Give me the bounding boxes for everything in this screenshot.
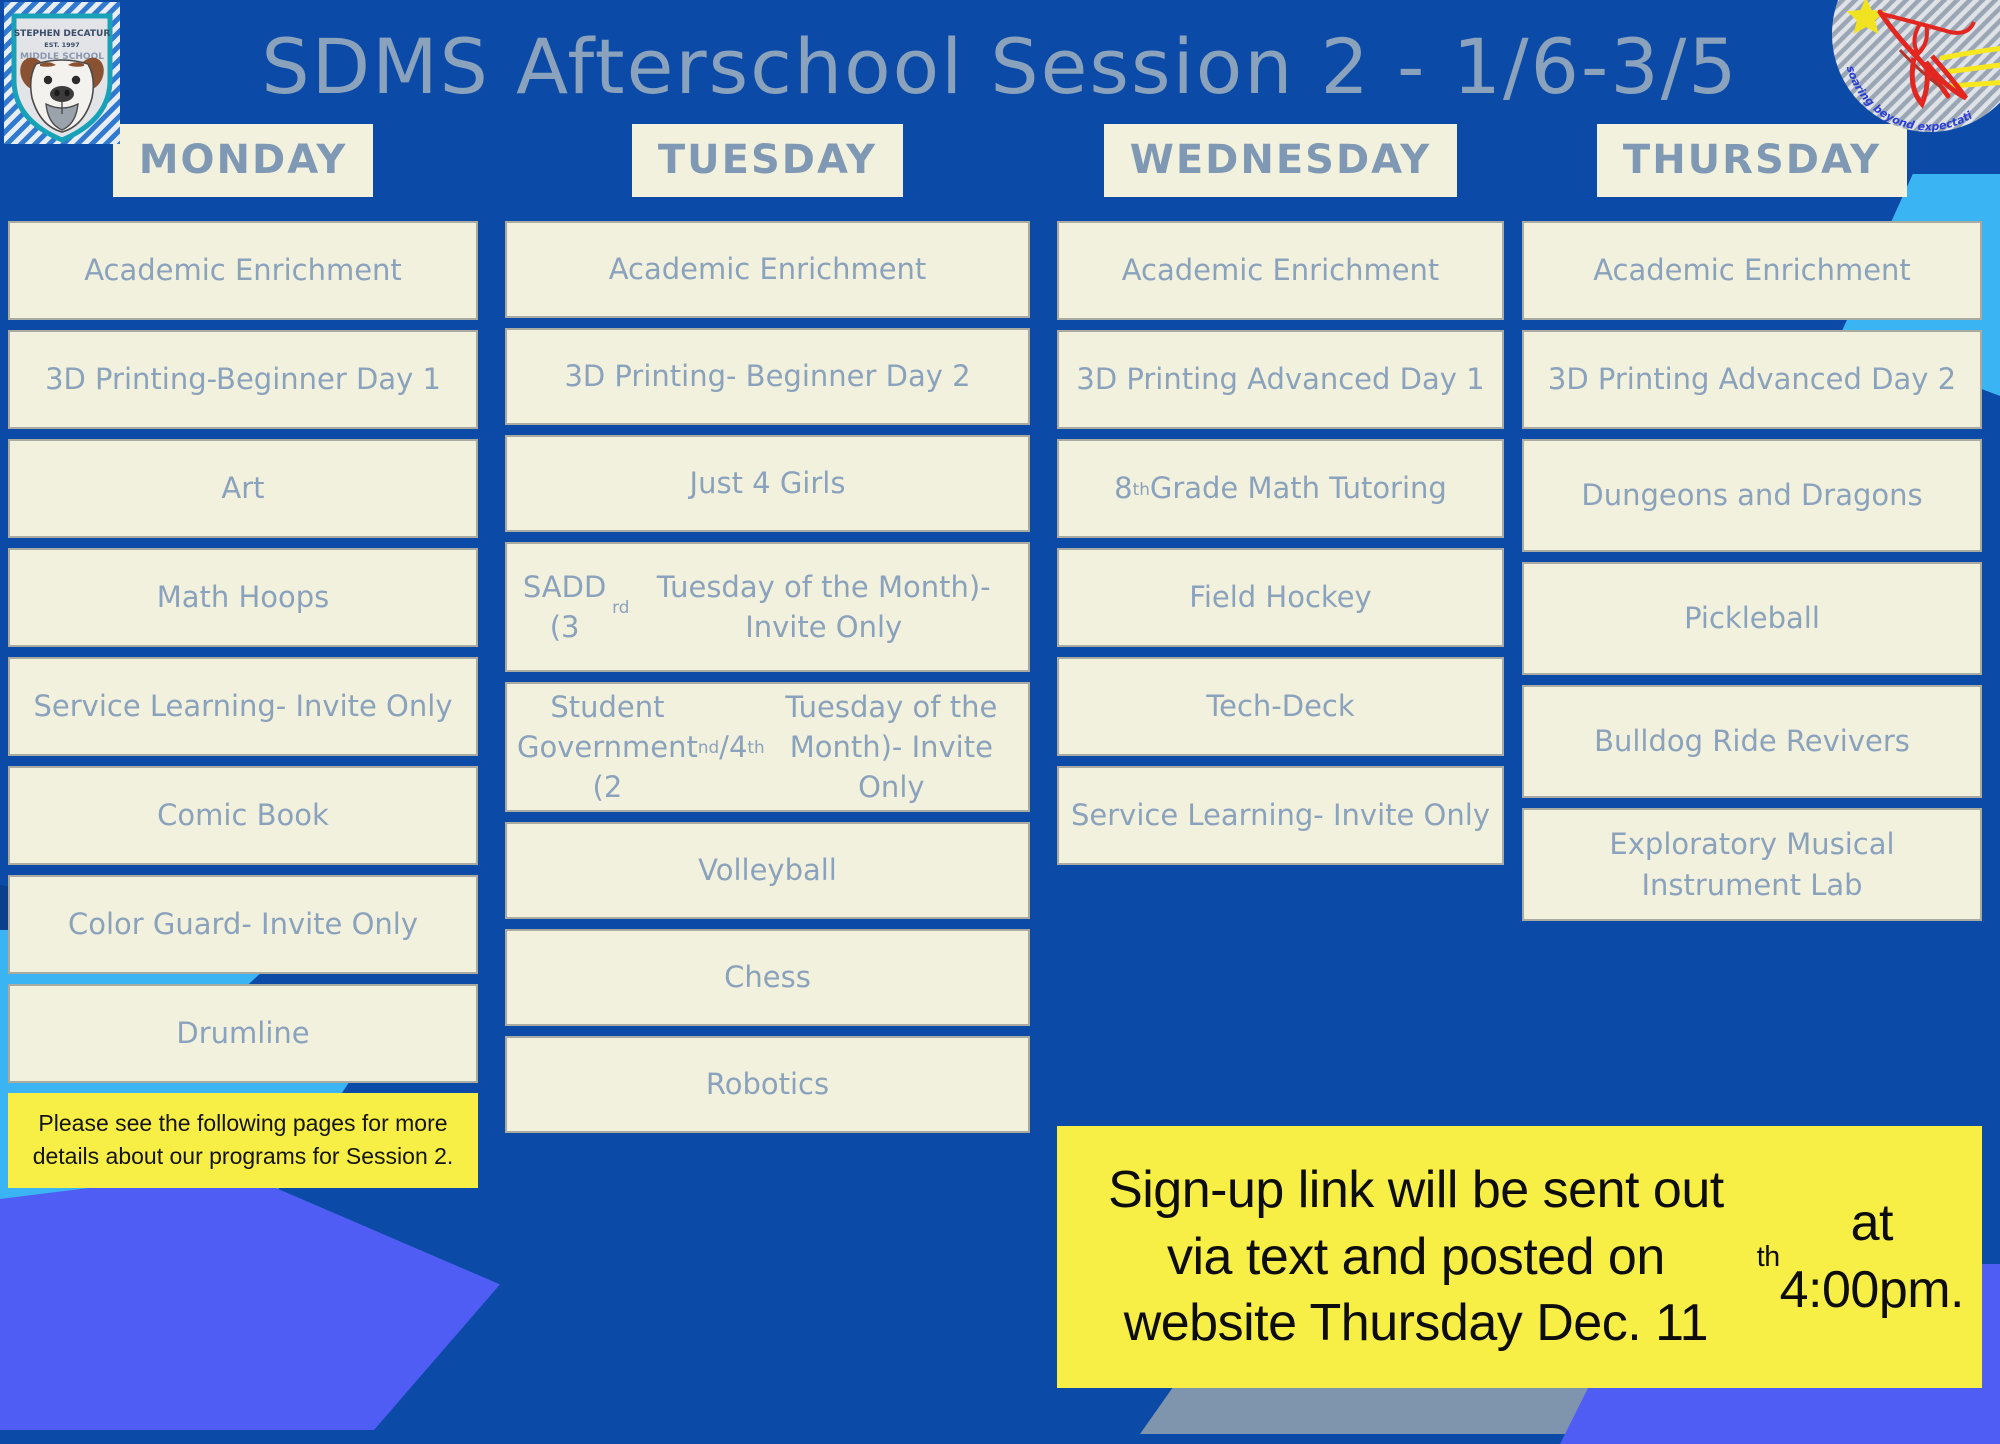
- day-column-monday: MONDAY Academic Enrichment 3D Printing-B…: [8, 124, 478, 1188]
- activity-card[interactable]: 3D Printing-Beginner Day 1: [8, 330, 478, 429]
- activity-card[interactable]: Exploratory Musical Instrument Lab: [1522, 808, 1982, 921]
- activity-card[interactable]: Tech-Deck: [1057, 657, 1504, 756]
- day-column-thursday: THURSDAY Academic Enrichment 3D Printing…: [1522, 124, 1982, 931]
- activity-card[interactable]: Volleyball: [505, 822, 1030, 919]
- activity-card[interactable]: Academic Enrichment: [1522, 221, 1982, 320]
- activity-card[interactable]: Drumline: [8, 984, 478, 1083]
- activity-card[interactable]: Service Learning- Invite Only: [1057, 766, 1504, 865]
- activity-card[interactable]: Dungeons and Dragons: [1522, 439, 1982, 552]
- page-title: SDMS Afterschool Session 2 - 1/6-3/5: [0, 22, 2000, 111]
- activity-card[interactable]: 8th Grade Math Tutoring: [1057, 439, 1504, 538]
- day-header-tuesday: TUESDAY: [632, 124, 903, 197]
- activity-list-tuesday: Academic Enrichment 3D Printing- Beginne…: [505, 221, 1030, 1133]
- activity-card[interactable]: Robotics: [505, 1036, 1030, 1133]
- activity-card[interactable]: Bulldog Ride Revivers: [1522, 685, 1982, 798]
- school-crest-logo: STEPHEN DECATUR EST. 1997 MIDDLE SCHOOL: [4, 2, 120, 144]
- activity-card[interactable]: Service Learning- Invite Only: [8, 657, 478, 756]
- day-column-tuesday: TUESDAY Academic Enrichment 3D Printing-…: [505, 124, 1030, 1143]
- activity-card[interactable]: Field Hockey: [1057, 548, 1504, 647]
- activity-list-thursday: Academic Enrichment 3D Printing Advanced…: [1522, 221, 1982, 921]
- soaring-beyond-expectations-logo: soaring beyond expectations: [1822, 0, 2000, 142]
- activity-card[interactable]: Student Government (2nd/4th Tuesday of t…: [505, 682, 1030, 812]
- activity-card[interactable]: Academic Enrichment: [505, 221, 1030, 318]
- activity-card[interactable]: SADD (3rd Tuesday of the Month)- Invite …: [505, 542, 1030, 672]
- day-header-wednesday: WEDNESDAY: [1104, 124, 1458, 197]
- activity-card[interactable]: Just 4 Girls: [505, 435, 1030, 532]
- activity-card[interactable]: Math Hoops: [8, 548, 478, 647]
- activity-card[interactable]: Academic Enrichment: [8, 221, 478, 320]
- details-note: Please see the following pages for more …: [8, 1093, 478, 1188]
- activity-card[interactable]: Pickleball: [1522, 562, 1982, 675]
- activity-card[interactable]: Art: [8, 439, 478, 538]
- activity-card[interactable]: 3D Printing Advanced Day 2: [1522, 330, 1982, 429]
- activity-card[interactable]: 3D Printing- Beginner Day 2: [505, 328, 1030, 425]
- day-column-wednesday: WEDNESDAY Academic Enrichment 3D Printin…: [1057, 124, 1504, 875]
- svg-text:STEPHEN DECATUR: STEPHEN DECATUR: [14, 29, 111, 39]
- activity-card[interactable]: Color Guard- Invite Only: [8, 875, 478, 974]
- activity-card[interactable]: Chess: [505, 929, 1030, 1026]
- activity-card[interactable]: Academic Enrichment: [1057, 221, 1504, 320]
- day-header-monday: MONDAY: [113, 124, 374, 197]
- svg-text:EST. 1997: EST. 1997: [44, 41, 79, 49]
- activity-list-wednesday: Academic Enrichment 3D Printing Advanced…: [1057, 221, 1504, 865]
- activity-card[interactable]: Comic Book: [8, 766, 478, 865]
- activity-list-monday: Academic Enrichment 3D Printing-Beginner…: [8, 221, 478, 1188]
- signup-announcement-banner: Sign-up link will be sent out via text a…: [1057, 1126, 1982, 1388]
- activity-card[interactable]: 3D Printing Advanced Day 1: [1057, 330, 1504, 429]
